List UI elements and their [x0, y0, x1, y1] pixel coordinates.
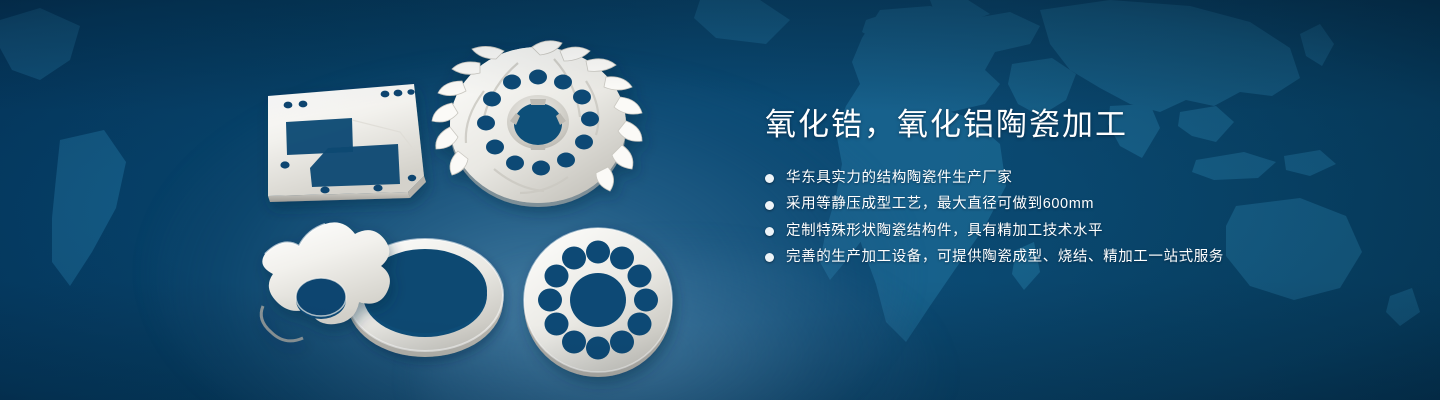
- list-item: 采用等静压成型工艺，最大直径可做到600mm: [765, 196, 1365, 213]
- bullet-dot-icon: [765, 227, 774, 236]
- bullet-text: 定制特殊形状陶瓷结构件，具有精加工技术水平: [786, 223, 1103, 240]
- ceramic-products-group: [0, 0, 760, 400]
- bullet-dot-icon: [765, 253, 774, 262]
- bullet-dot-icon: [765, 201, 774, 210]
- list-item: 华东具实力的结构陶瓷件生产厂家: [765, 170, 1365, 187]
- bullet-dot-icon: [765, 174, 774, 183]
- banner-headline: 氧化锆，氧化铝陶瓷加工: [765, 108, 1365, 142]
- bullet-text: 采用等静压成型工艺，最大直径可做到600mm: [786, 196, 1094, 213]
- list-item: 定制特殊形状陶瓷结构件，具有精加工技术水平: [765, 223, 1365, 240]
- ceramic-plate: [268, 84, 426, 202]
- banner-feature-list: 华东具实力的结构陶瓷件生产厂家 采用等静压成型工艺，最大直径可做到600mm 定…: [765, 170, 1365, 267]
- bullet-text: 完善的生产加工设备，可提供陶瓷成型、烧结、精加工一站式服务: [786, 249, 1224, 266]
- bullet-text: 华东具实力的结构陶瓷件生产厂家: [786, 170, 1013, 187]
- list-item: 完善的生产加工设备，可提供陶瓷成型、烧结、精加工一站式服务: [765, 249, 1365, 266]
- banner-text-block: 氧化锆，氧化铝陶瓷加工 华东具实力的结构陶瓷件生产厂家 采用等静压成型工艺，最大…: [765, 108, 1365, 276]
- ceramic-impeller: [432, 41, 642, 207]
- ceramic-processing-banner: 氧化锆，氧化铝陶瓷加工 华东具实力的结构陶瓷件生产厂家 采用等静压成型工艺，最大…: [0, 0, 1440, 400]
- ceramic-perforated-disc: [524, 228, 672, 377]
